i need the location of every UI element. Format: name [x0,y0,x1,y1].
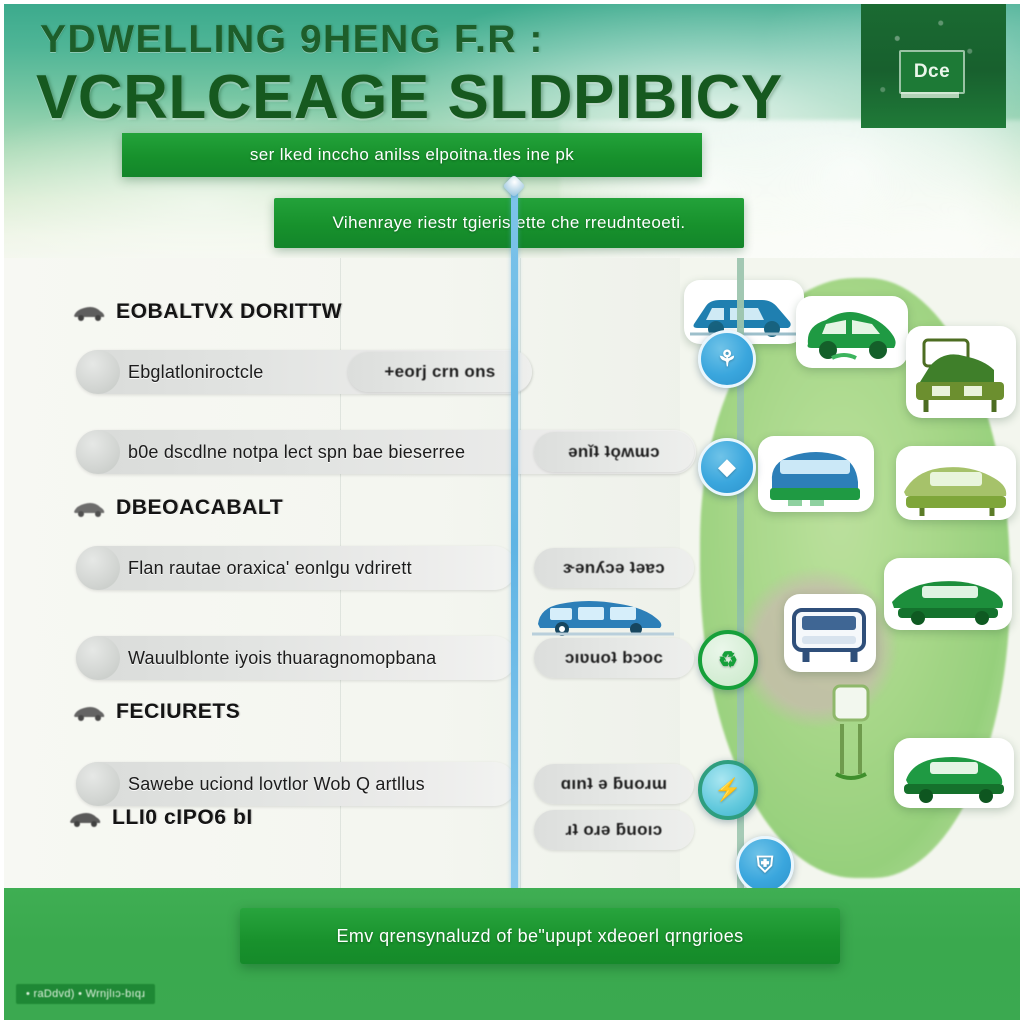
row-manual-variant[interactable]: Flan rautae oraxica' eonlgu vdrirett [76,546,516,590]
section-header-label: FECIURETS [116,700,240,724]
row-value-text: ɑınʇ ǝ ƃuoɹɯ [561,774,668,794]
row-value-baseline-emissions: ənǐʇ ʇǫʍɯɔ [534,432,694,472]
row-value-text: ɹʇ oɹǝ ƃuoıɔ [565,820,662,840]
shield-icon: ⛨ [757,852,774,878]
section-header-features: FECIURETS [72,700,240,724]
vehicle-sticker-bus-blue [758,436,874,512]
row-value-text: ɔıʋuoʇ bɔoc [565,648,663,668]
timeline-node-droplet[interactable]: ◆ [698,438,756,496]
row-value-manual-variant: ɝǝnʎɔǝ ʇǝɐɔ [534,548,694,588]
vehicle-sticker-sports-green [884,558,1012,630]
brand-logo-text: Dce [914,61,950,83]
vehicle-sticker-coupe-olive [896,446,1016,520]
section-header-label: DBEOACABALT [116,496,283,520]
vehicle-sticker-sedan-teal [684,280,804,344]
vehicle-sticker-van-white [784,594,876,672]
header-subtitle-ribbon-1: ser lked inccho anilss elpoitna.tles ine… [122,133,702,177]
row-onboard-status[interactable]: Sawebe uciond lovtlor Wob Q artllus [76,762,516,806]
section-header-cobalt: DBEOACABALT [72,496,283,520]
timeline-node-battery[interactable]: ⚡ [698,760,758,820]
brand-logo-column: Dce [861,0,1006,128]
vehicle-sticker-charger [816,678,886,788]
row-value-thermo-data: ɔıʋuoʇ bɔoc [534,638,694,678]
timeline-node-leaf[interactable]: ⚘ [698,330,756,388]
row-bullet [76,636,120,680]
row-bullet [76,350,120,394]
vehicle-sticker-truck-olive [906,326,1016,418]
center-connector-line [511,178,518,908]
row-label: b0e dscdlne notра lect spn bae bieserree [128,442,465,463]
row-value-llo-credit: ɹʇ oɹǝ ƃuoıɔ [534,810,694,850]
battery-icon: ⚡ [714,777,741,803]
footer-ribbon: Emv qrensynaluzd of be"upupt xdeoerl qrn… [240,908,840,964]
row-bullet [76,546,120,590]
droplet-icon: ◆ [719,454,736,480]
infographic-poster: YDWELLING 9HENG F.R : VCRLCEAGE SLDPIBIC… [0,0,1024,1024]
timeline-node-shield[interactable]: ⛨ [736,836,794,894]
vehicle-sticker-sedan-green [894,738,1014,808]
section-header-label: EOBALTVX DORITTW [116,300,342,324]
timeline-node-recycle[interactable]: ♻ [698,630,758,690]
row-value-text: ɝǝnʎɔǝ ʇǝɐɔ [563,558,665,578]
car-side-icon [72,302,106,322]
page-title-line-2: VCRLCEAGE SLDPIBICY [36,62,976,133]
row-value-registration-cycle: +eorj crn ons [348,352,532,392]
section-header-llo-credit: LLI0 cIPO6 bI [68,806,253,830]
brand-logo-underbar [901,92,959,98]
row-label: Ebglatloniroctcle [128,362,263,383]
leaf-icon: ⚘ [717,346,737,372]
footer-source-tag: • raDdvd) • Wrnjlıɔ-bıqɹ [16,984,155,1004]
car-side-icon [68,808,102,828]
row-value-onboard-status: ɑınʇ ǝ ƃuoɹɯ [534,764,694,804]
row-thermo-data[interactable]: Wauulblonte iyois thuaragnomopbana [76,636,516,680]
row-label: Sawebe uciond lovtlor Wob Q artllus [128,774,425,795]
row-value-text: ənǐʇ ʇǫʍɯɔ [568,442,660,462]
page-title-line-1: YDWELLING 9HENG F.R : [40,18,920,62]
row-label: Flan rautae oraxica' eonlgu vdrirett [128,558,412,579]
row-bullet [76,430,120,474]
car-side-icon [72,498,106,518]
header-subtitle-ribbon-2: Vihenraye riestr tgieris ette che rreudn… [274,198,744,248]
row-value-text: +eorj crn ons [384,362,495,382]
section-header-eco-quality: EOBALTVX DORITTW [72,300,342,324]
car-side-icon [72,702,106,722]
row-label: Wauulblonte iyois thuaragnomopbana [128,648,436,669]
row-bullet [76,762,120,806]
section-header-label: LLI0 cIPO6 bI [112,806,253,830]
blue-van-icon [528,594,678,640]
vehicle-sticker-hatchback-green [796,296,908,368]
recycle-icon: ♻ [718,647,738,673]
brand-logo-badge: Dce [899,50,965,94]
